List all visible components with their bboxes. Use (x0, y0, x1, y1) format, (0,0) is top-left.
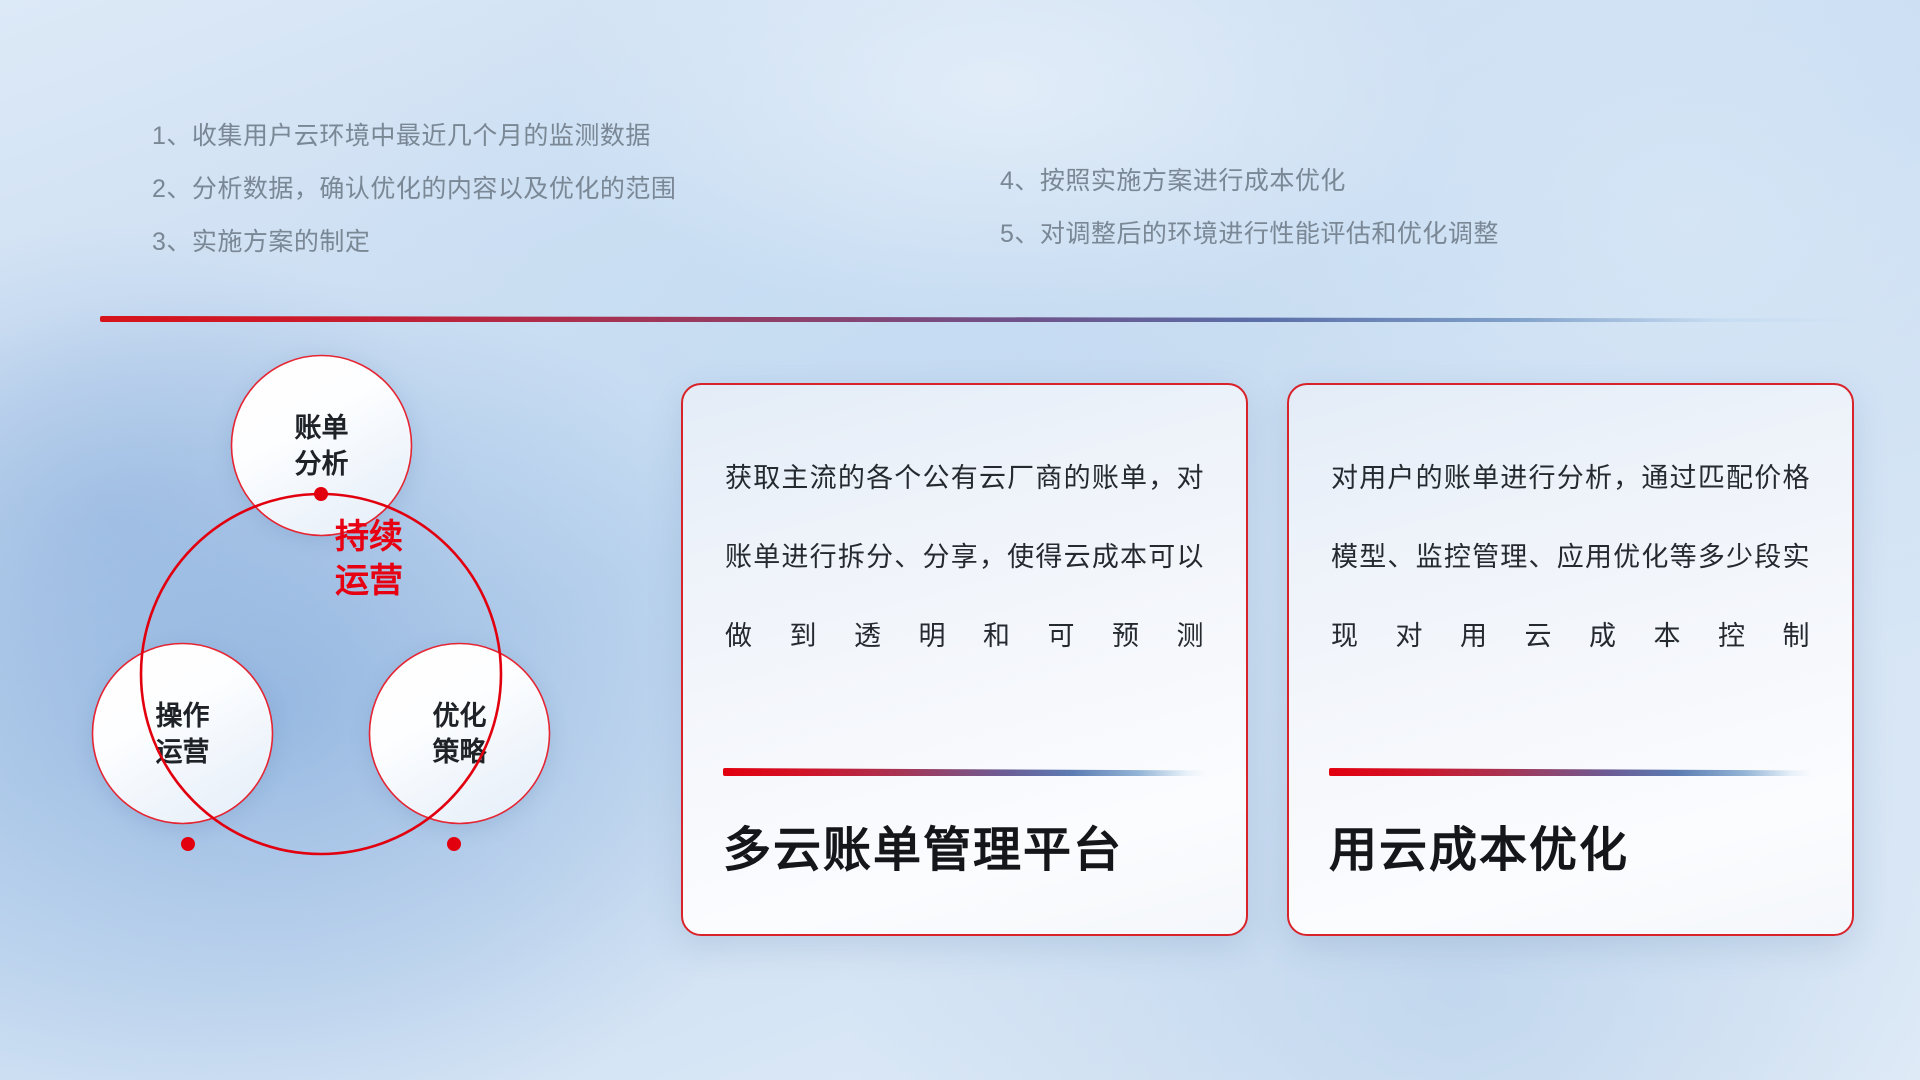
process-step-1: 1、收集用户云环境中最近几个月的监测数据 (152, 110, 676, 163)
feature-card-1-body: 获取主流的各个公有云厂商的账单，对账单进行拆分、分享，使得云成本可以做到透明和可… (721, 439, 1208, 676)
node-dot-right (447, 837, 461, 851)
feature-card-1-spacer (721, 676, 1208, 768)
feature-card-2-spacer (1327, 676, 1814, 768)
process-steps-left: 1、收集用户云环境中最近几个月的监测数据 2、分析数据，确认优化的内容以及优化的… (152, 110, 676, 269)
feature-card-multicloud-billing[interactable]: 获取主流的各个公有云厂商的账单，对账单进行拆分、分享，使得云成本可以做到透明和可… (681, 383, 1248, 936)
slide-canvas: 1、收集用户云环境中最近几个月的监测数据 2、分析数据，确认优化的内容以及优化的… (0, 0, 1920, 1080)
venn-diagram: 账单 分析 操作 运营 优化 策略 持续 运营 (92, 355, 632, 935)
feature-card-2-body: 对用户的账单进行分析，通过匹配价格模型、监控管理、应用优化等多少段实现对用云成本… (1327, 439, 1814, 676)
feature-card-2-title: 用云成本优化 (1327, 810, 1814, 900)
process-step-3: 3、实施方案的制定 (152, 216, 676, 269)
right-bubble-ring (370, 644, 550, 824)
feature-card-2-divider (1329, 768, 1812, 776)
feature-card-cost-optimization[interactable]: 对用户的账单进行分析，通过匹配价格模型、监控管理、应用优化等多少段实现对用云成本… (1287, 383, 1854, 936)
process-step-4: 4、按照实施方案进行成本优化 (1000, 155, 1499, 208)
node-dot-left (181, 837, 195, 851)
header-divider (100, 316, 1860, 322)
feature-card-1-title: 多云账单管理平台 (721, 810, 1208, 900)
process-step-5: 5、对调整后的环境进行性能评估和优化调整 (1000, 208, 1499, 261)
feature-card-1-divider (723, 768, 1206, 776)
header-divider-bar (100, 316, 1860, 322)
left-bubble-ring (93, 644, 273, 824)
process-steps-right: 4、按照实施方案进行成本优化 5、对调整后的环境进行性能评估和优化调整 (1000, 155, 1499, 261)
node-dot-top (314, 487, 328, 501)
process-step-2: 2、分析数据，确认优化的内容以及优化的范围 (152, 163, 676, 216)
top-bubble-ring (232, 356, 412, 536)
venn-center-label: 持续 运营 (264, 515, 474, 603)
venn-rings (92, 355, 632, 935)
